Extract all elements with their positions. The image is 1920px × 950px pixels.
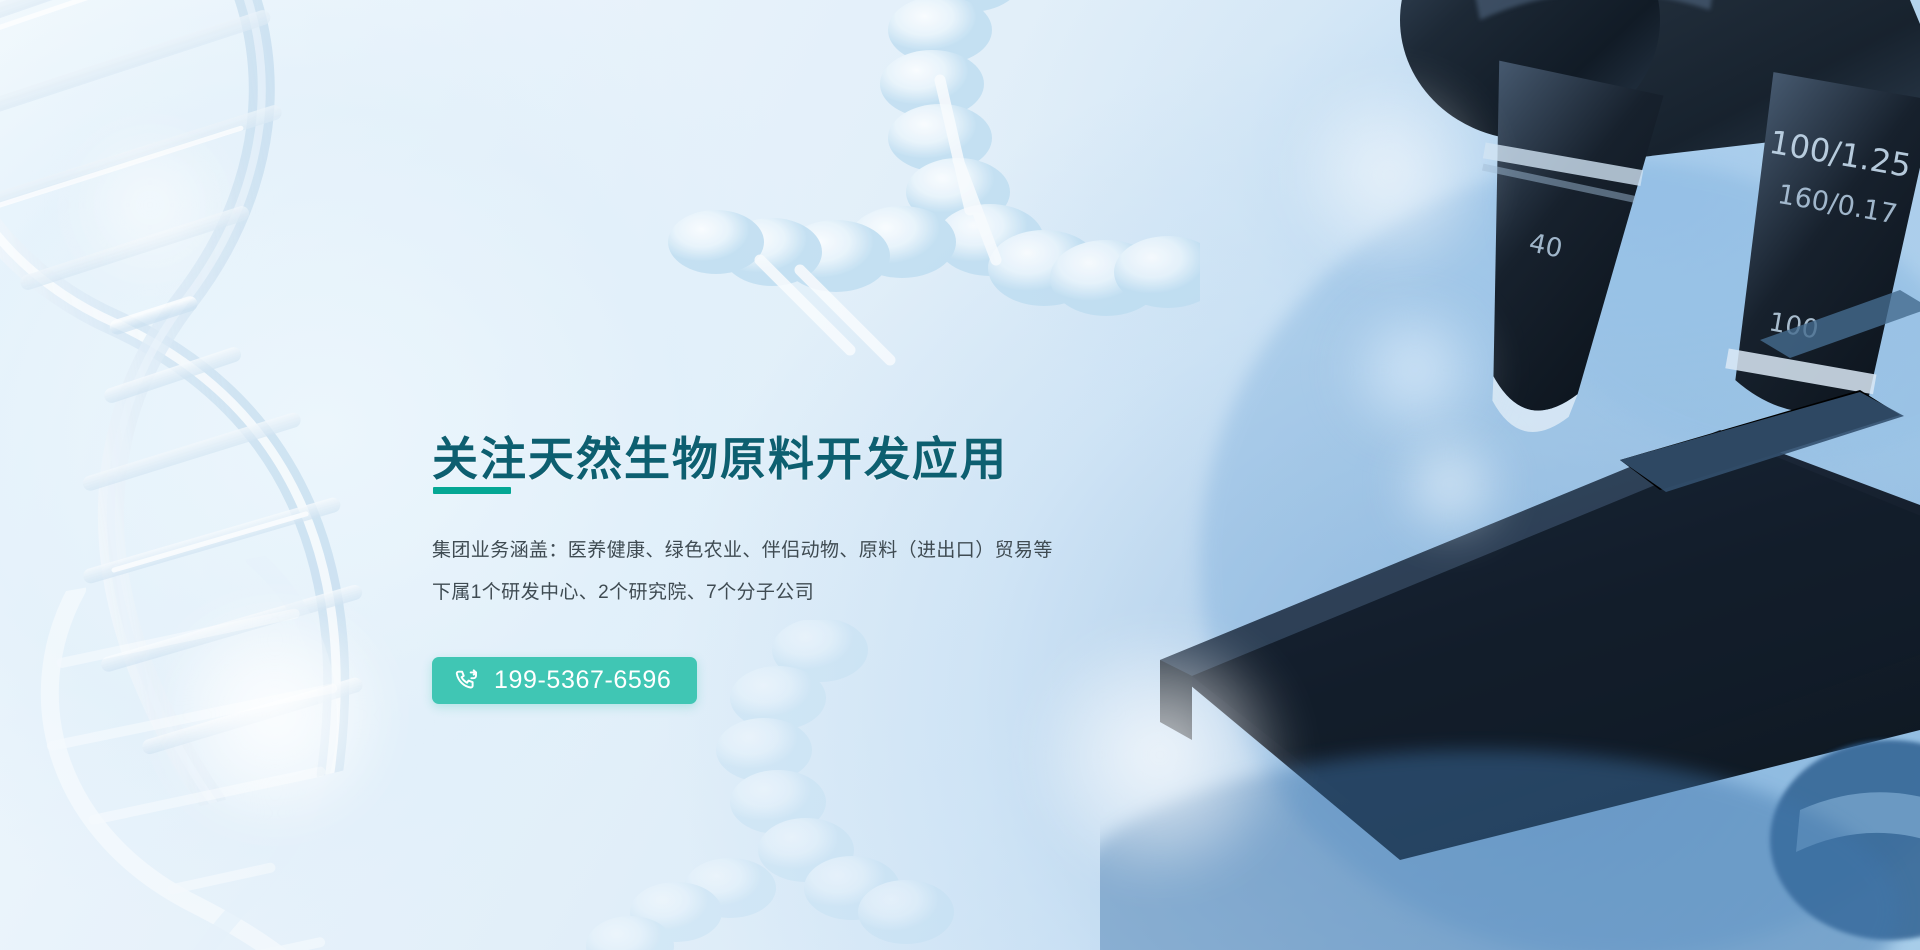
page-title: 关注天然生物原料开发应用	[432, 423, 1008, 489]
svg-text:100: 100	[1767, 307, 1821, 345]
phone-number-label: 199-5367-6596	[494, 666, 671, 695]
hero-content: 关注天然生物原料开发应用 集团业务涵盖：医养健康、绿色农业、伴侣动物、原料（进出…	[432, 0, 1332, 950]
hero-description-line-1: 集团业务涵盖：医养健康、绿色农业、伴侣动物、原料（进出口）贸易等	[432, 530, 1192, 572]
hero-description-line-2: 下属1个研发中心、2个研究院、7个分子公司	[432, 572, 1192, 614]
bokeh-glow	[60, 120, 240, 290]
hero-banner: 40 100/1.25 160/0.17 100	[0, 0, 1920, 950]
bokeh-glow	[1340, 300, 1490, 440]
phone-forwarded-icon	[454, 668, 480, 694]
svg-text:160/0.17: 160/0.17	[1775, 179, 1899, 230]
bokeh-glow	[1390, 430, 1510, 540]
bokeh-glow	[150, 600, 400, 830]
hero-description: 集团业务涵盖：医养健康、绿色农业、伴侣动物、原料（进出口）贸易等 下属1个研发中…	[432, 530, 1192, 614]
svg-text:100/1.25: 100/1.25	[1766, 123, 1914, 185]
svg-text:40: 40	[1526, 228, 1565, 264]
phone-cta-button[interactable]: 199-5367-6596	[432, 657, 697, 704]
title-divider	[433, 487, 511, 494]
